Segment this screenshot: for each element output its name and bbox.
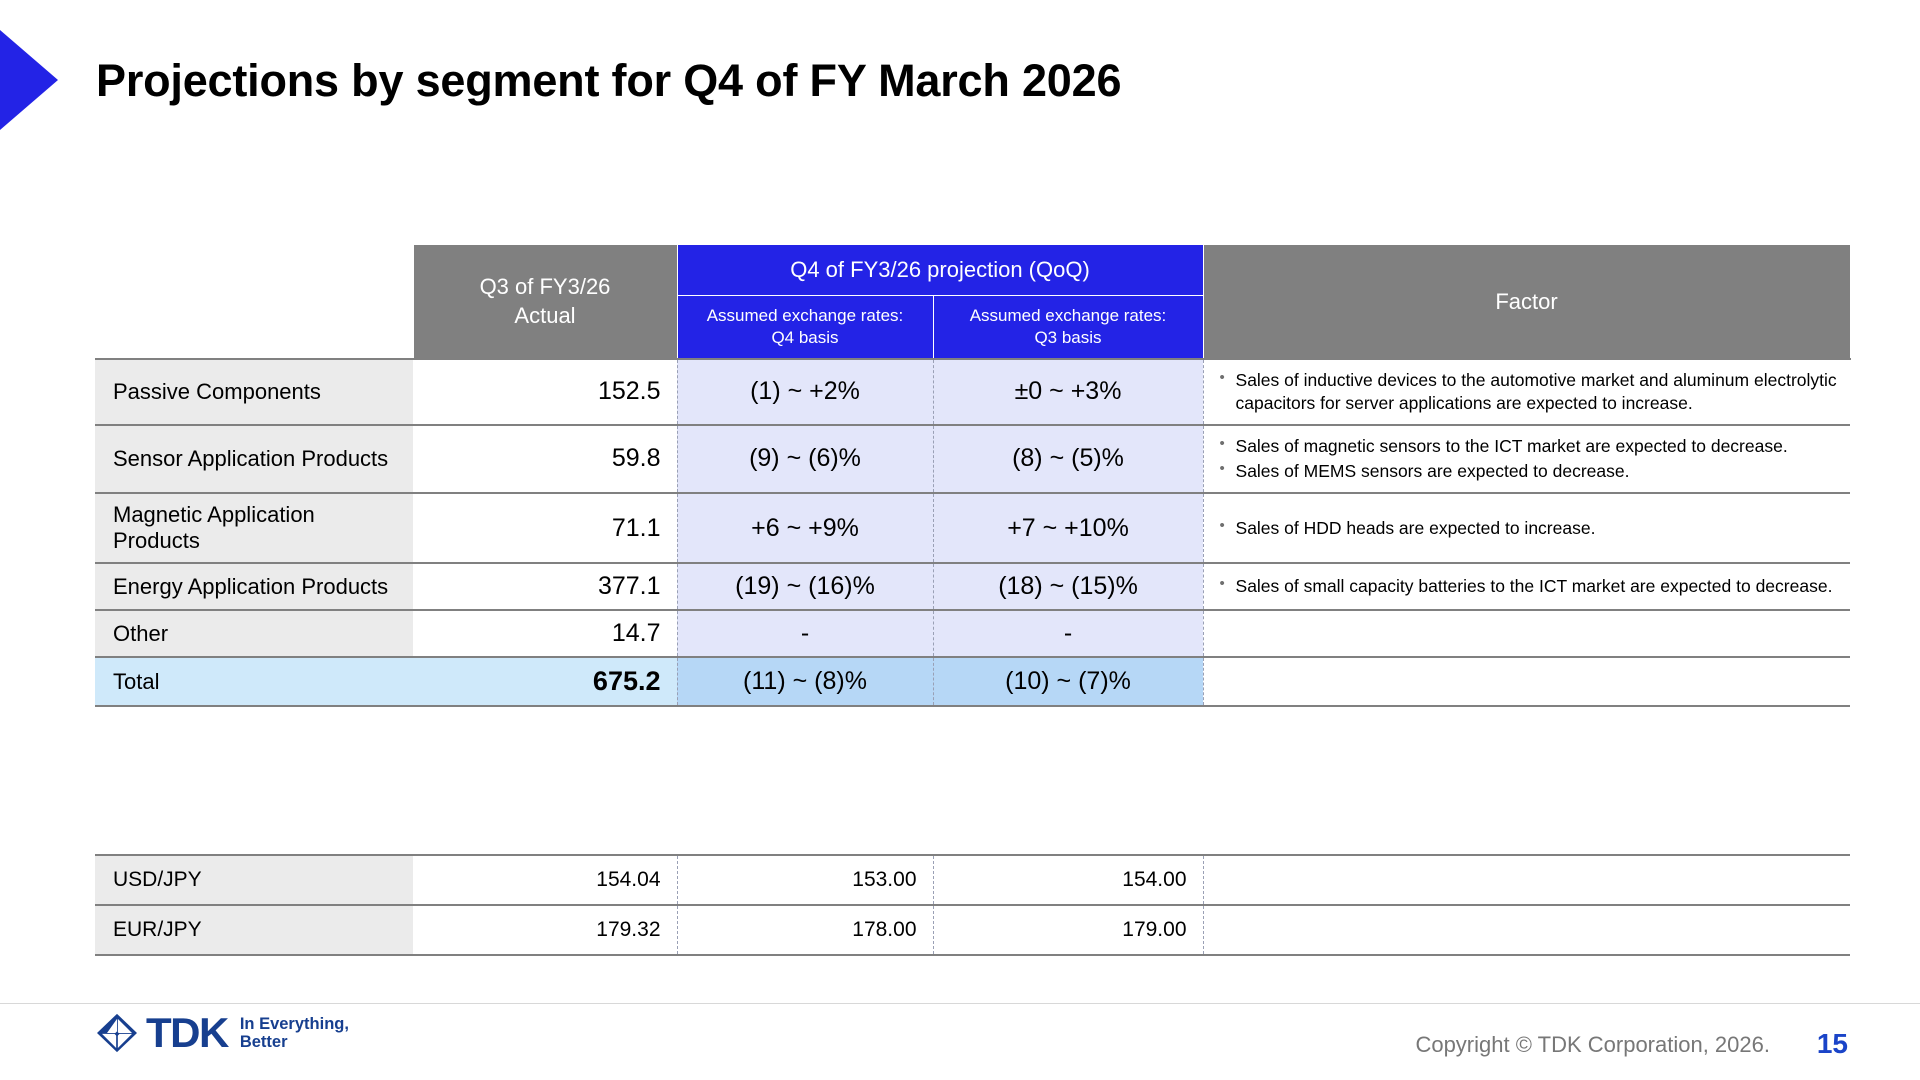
cell-factor: Sales of HDD heads are expected to incre…	[1203, 493, 1850, 563]
cell-projection-q3-basis: (18) ~ (15)%	[933, 563, 1203, 610]
cell-rate-blank	[1203, 855, 1850, 905]
segment-projection-table: Q3 of FY3/26 Actual Q4 of FY3/26 project…	[95, 244, 1851, 707]
tdk-wordmark: TDK	[146, 1012, 228, 1054]
cell-projection-q3-basis: (10) ~ (7)%	[933, 657, 1203, 706]
header-assumed-rate-q3: Assumed exchange rates: Q3 basis	[933, 296, 1203, 360]
page-number: 15	[1817, 1028, 1848, 1060]
header-row-group: Q3 of FY3/26 Actual Q4 of FY3/26 project…	[95, 245, 1850, 296]
copyright-text: Copyright © TDK Corporation, 2026.	[1415, 1032, 1770, 1058]
factor-list: Sales of HDD heads are expected to incre…	[1218, 517, 1841, 540]
cell-projection-q4-basis: -	[677, 610, 933, 657]
table-row: Passive Components152.5(1) ~ +2%±0 ~ +3%…	[95, 359, 1850, 425]
cell-projection-q4-basis: (1) ~ +2%	[677, 359, 933, 425]
cell-currency-pair: USD/JPY	[95, 855, 413, 905]
cell-factor	[1203, 610, 1850, 657]
cell-projection-q3-basis: ±0 ~ +3%	[933, 359, 1203, 425]
exchange-rate-row: USD/JPY154.04153.00154.00	[95, 855, 1850, 905]
cell-segment-label: Passive Components	[95, 359, 413, 425]
tdk-logo: TDK In Everything, Better	[96, 1012, 349, 1054]
factor-list-item: Sales of HDD heads are expected to incre…	[1218, 517, 1841, 540]
cell-q3-actual: 152.5	[413, 359, 677, 425]
factor-list-item: Sales of inductive devices to the automo…	[1218, 369, 1841, 415]
header-assumed-rate-q3-line1: Assumed exchange rates:	[940, 305, 1197, 327]
cell-factor	[1203, 657, 1850, 706]
cell-q3-actual: 377.1	[413, 563, 677, 610]
slide-canvas: Projections by segment for Q4 of FY Marc…	[0, 0, 1920, 1080]
factor-list: Sales of inductive devices to the automo…	[1218, 369, 1841, 415]
factor-list-item: Sales of MEMS sensors are expected to de…	[1218, 460, 1841, 483]
cell-q3-actual: 14.7	[413, 610, 677, 657]
table-row: Other14.7--	[95, 610, 1850, 657]
cell-rate-q4-basis: 153.00	[677, 855, 933, 905]
cell-projection-q3-basis: -	[933, 610, 1203, 657]
cell-factor: Sales of magnetic sensors to the ICT mar…	[1203, 425, 1850, 494]
cell-rate-q4-basis: 178.00	[677, 905, 933, 955]
factor-list-item: Sales of magnetic sensors to the ICT mar…	[1218, 435, 1841, 458]
cell-projection-q3-basis: +7 ~ +10%	[933, 493, 1203, 563]
factor-list: Sales of magnetic sensors to the ICT mar…	[1218, 435, 1841, 484]
exchange-rate-row: EUR/JPY179.32178.00179.00	[95, 905, 1850, 955]
table-row-total: Total675.2(11) ~ (8)%(10) ~ (7)%	[95, 657, 1850, 706]
cell-segment-label: Sensor Application Products	[95, 425, 413, 494]
tdk-tagline: In Everything, Better	[240, 1016, 349, 1052]
cell-projection-q4-basis: +6 ~ +9%	[677, 493, 933, 563]
cell-segment-label: Total	[95, 657, 413, 706]
exchange-rate-table-container: USD/JPY154.04153.00154.00EUR/JPY179.3217…	[95, 854, 1850, 956]
cell-factor: Sales of inductive devices to the automo…	[1203, 359, 1850, 425]
factor-list: Sales of small capacity batteries to the…	[1218, 575, 1841, 598]
header-factor: Factor	[1203, 245, 1850, 360]
cell-q3-actual: 675.2	[413, 657, 677, 706]
cell-projection-q4-basis: (9) ~ (6)%	[677, 425, 933, 494]
header-q3-actual-line1: Q3 of FY3/26	[420, 273, 671, 301]
table-row: Magnetic Application Products71.1+6 ~ +9…	[95, 493, 1850, 563]
cell-projection-q3-basis: (8) ~ (5)%	[933, 425, 1203, 494]
exchange-rate-table-body: USD/JPY154.04153.00154.00EUR/JPY179.3217…	[95, 855, 1850, 955]
page-title: Projections by segment for Q4 of FY Marc…	[96, 55, 1121, 107]
cell-rate-blank	[1203, 905, 1850, 955]
cell-segment-label: Other	[95, 610, 413, 657]
header-assumed-rate-q4: Assumed exchange rates: Q4 basis	[677, 296, 933, 360]
cell-factor: Sales of small capacity batteries to the…	[1203, 563, 1850, 610]
table-row: Energy Application Products377.1(19) ~ (…	[95, 563, 1850, 610]
header-q3-actual-line2: Actual	[420, 302, 671, 330]
cell-q3-actual: 71.1	[413, 493, 677, 563]
cell-rate-q3-basis: 179.00	[933, 905, 1203, 955]
cell-projection-q4-basis: (19) ~ (16)%	[677, 563, 933, 610]
footer-divider	[0, 1003, 1920, 1004]
segment-projection-table-container: Q3 of FY3/26 Actual Q4 of FY3/26 project…	[95, 244, 1850, 707]
tdk-tagline-line2: Better	[240, 1033, 288, 1051]
title-accent-arrow-icon	[0, 30, 58, 130]
cell-segment-label: Magnetic Application Products	[95, 493, 413, 563]
header-q3-actual: Q3 of FY3/26 Actual	[413, 245, 677, 360]
header-assumed-rate-q3-line2: Q3 basis	[940, 327, 1197, 349]
header-corner-blank-2	[95, 296, 413, 360]
cell-rate-q3-actual: 179.32	[413, 905, 677, 955]
cell-segment-label: Energy Application Products	[95, 563, 413, 610]
table-body: Passive Components152.5(1) ~ +2%±0 ~ +3%…	[95, 359, 1850, 706]
header-assumed-rate-q4-line2: Q4 basis	[684, 327, 927, 349]
cell-currency-pair: EUR/JPY	[95, 905, 413, 955]
table-row: Sensor Application Products59.8(9) ~ (6)…	[95, 425, 1850, 494]
exchange-rate-table: USD/JPY154.04153.00154.00EUR/JPY179.3217…	[95, 854, 1850, 956]
cell-rate-q3-actual: 154.04	[413, 855, 677, 905]
header-assumed-rate-q4-line1: Assumed exchange rates:	[684, 305, 927, 327]
tdk-emblem-icon	[96, 1013, 138, 1053]
tdk-tagline-line1: In Everything,	[240, 1015, 349, 1033]
cell-rate-q3-basis: 154.00	[933, 855, 1203, 905]
cell-q3-actual: 59.8	[413, 425, 677, 494]
table-head: Q3 of FY3/26 Actual Q4 of FY3/26 project…	[95, 245, 1850, 360]
factor-list-item: Sales of small capacity batteries to the…	[1218, 575, 1841, 598]
header-projection-group: Q4 of FY3/26 projection (QoQ)	[677, 245, 1203, 296]
cell-projection-q4-basis: (11) ~ (8)%	[677, 657, 933, 706]
header-corner-blank	[95, 245, 413, 296]
